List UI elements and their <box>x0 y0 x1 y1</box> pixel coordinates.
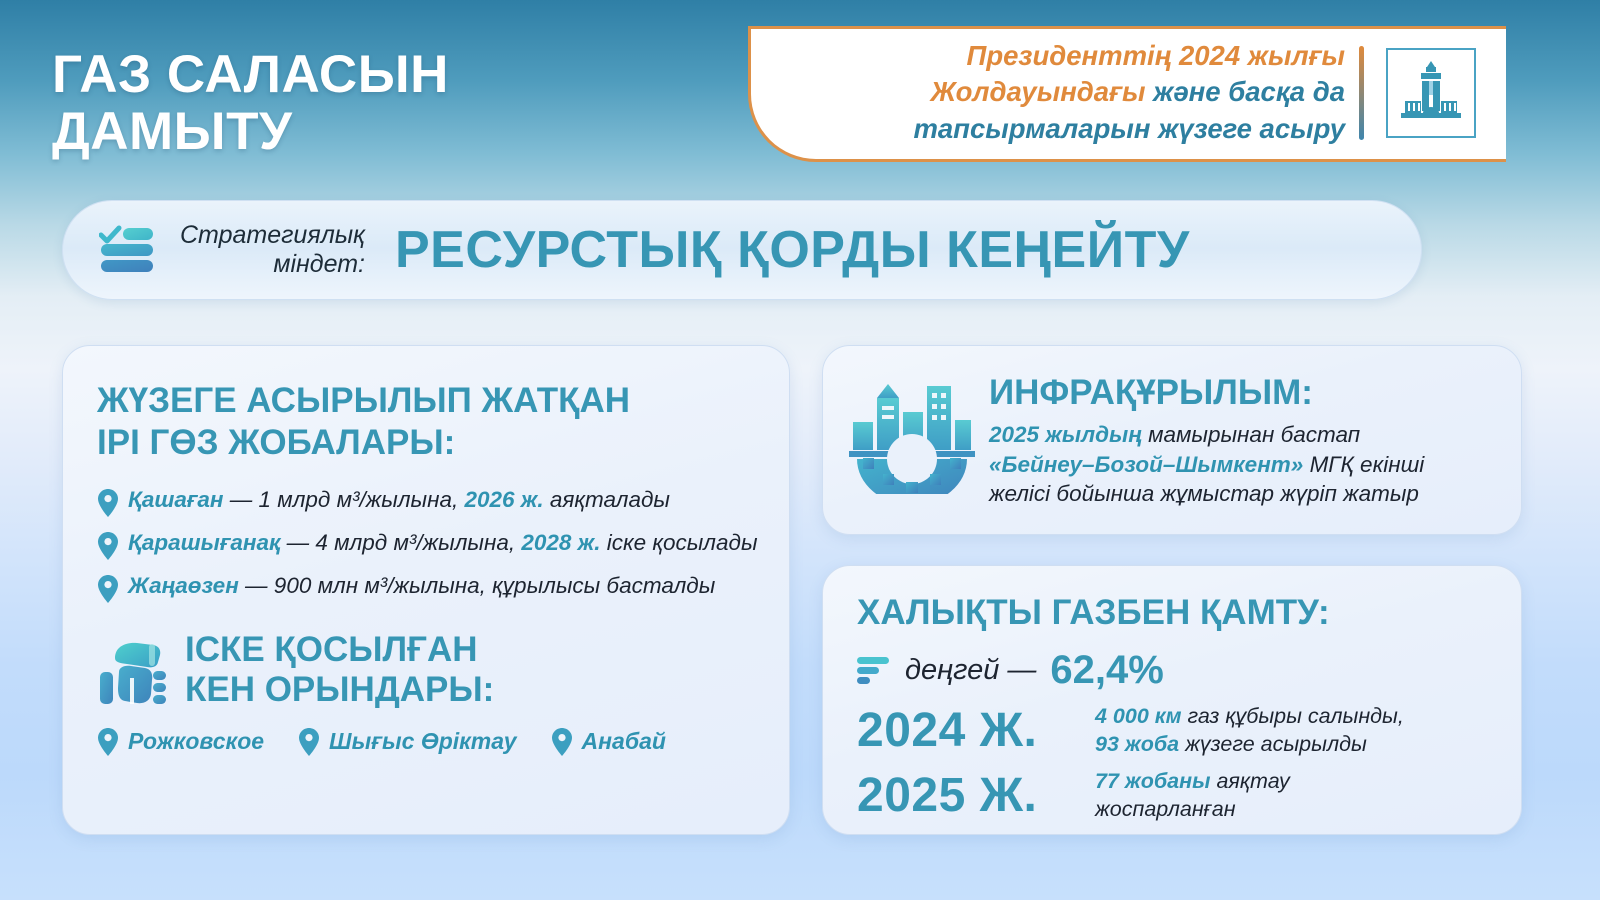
year-label: 2024 Ж. <box>857 703 1095 758</box>
major-projects-card: ЖҮЗЕГЕ АСЫРЫЛЫП ЖАТҚАН ІРІ ГӨЗ ЖОБАЛАРЫ:… <box>62 345 790 835</box>
field-name: Рожковское <box>128 728 264 755</box>
year-row: 2025 Ж. 77 жобаны аяқтау жоспарланған <box>857 768 1491 823</box>
infrastructure-title: ИНФРАҚҰРЫЛЫМ: <box>989 372 1424 414</box>
major-projects-title: ЖҮЗЕГЕ АСЫРЫЛЫП ЖАТҚАН ІРІ ГӨЗ ЖОБАЛАРЫ: <box>97 380 759 464</box>
page-title-line1: ГАЗ САЛАСЫН <box>52 46 449 103</box>
map-pin-icon <box>97 727 119 757</box>
project-name: Қарашығанақ <box>128 530 280 555</box>
list-item-text: Қашаған — 1 млрд м³/жылына, 2026 ж. аяқт… <box>128 486 670 515</box>
page-title: ГАЗ САЛАСЫН ДАМЫТУ <box>52 46 449 160</box>
year-label: 2025 Ж. <box>857 768 1095 823</box>
major-projects-list: Қашаған — 1 млрд м³/жылына, 2026 ж. аяқт… <box>97 486 759 604</box>
strategic-task-value: РЕСУРСТЫҚ ҚОРДЫ КЕҢЕЙТУ <box>395 220 1190 280</box>
page-title-line2: ДАМЫТУ <box>52 103 449 160</box>
list-item-text: Қарашығанақ — 4 млрд м³/жылына, 2028 ж. … <box>128 529 758 558</box>
list-item: Қарашығанақ — 4 млрд м³/жылына, 2028 ж. … <box>97 529 759 561</box>
infra-line1-rest: мамырынан бастап <box>1142 422 1360 447</box>
infra-line1-teal: 2025 жылдың <box>989 422 1142 447</box>
list-item: Рожковское <box>97 727 264 757</box>
map-pin-icon <box>97 488 119 518</box>
list-item: Қашаған — 1 млрд м³/жылына, 2026 ж. аяқт… <box>97 486 759 518</box>
banner-line1: Президенттің 2024 жылғы <box>967 40 1345 71</box>
banner-line2-rest: және басқа да <box>1145 76 1345 107</box>
year-desc-rest2: жоспарланған <box>1095 797 1236 821</box>
project-tail: іске қосылады <box>600 530 757 555</box>
year-desc-rest1: газ құбыры салынды, <box>1182 704 1404 728</box>
page-header: ГАЗ САЛАСЫН ДАМЫТУ Президенттің 2024 жыл… <box>0 0 1600 190</box>
banner-divider <box>1359 46 1364 140</box>
list-item: Анабай <box>551 727 666 757</box>
strategic-task-bar: Стратегиялық міндет: РЕСУРСТЫҚ ҚОРДЫ КЕҢ… <box>62 200 1422 300</box>
launched-fields-header: ІСКЕ ҚОСЫЛҒАН КЕН ОРЫНДАРЫ: <box>97 630 759 711</box>
year-desc-teal1: 4 000 км <box>1095 704 1182 728</box>
project-name: Жаңаөзен <box>128 573 239 598</box>
checklist-icon <box>99 225 155 275</box>
project-name: Қашаған <box>128 487 224 512</box>
list-item: Шығыс Өріктау <box>298 727 517 757</box>
year-desc-rest1: аяқтау <box>1210 769 1289 793</box>
strategic-task-label: Стратегиялық міндет: <box>177 221 365 280</box>
project-year: 2028 ж. <box>521 530 600 555</box>
list-item: Жаңаөзен — 900 млн м³/жылына, құрылысы б… <box>97 572 759 604</box>
year-description: 4 000 км газ құбыры салынды, 93 жоба жүз… <box>1095 703 1404 757</box>
project-mid: — 900 млн м³/жылына, құрылысы басталды <box>239 573 716 598</box>
president-banner: Президенттің 2024 жылғы Жолдауындағы жән… <box>748 26 1506 162</box>
gas-coverage-title: ХАЛЫҚТЫ ГАЗБЕН ҚАМТУ: <box>857 592 1491 634</box>
map-pin-icon <box>298 727 320 757</box>
infra-line3: желісі бойынша жұмыстар жүріп жатыр <box>989 481 1419 506</box>
year-desc-rest2: жүзеге асырылды <box>1179 732 1367 756</box>
list-item-text: Жаңаөзен — 900 млн м³/жылына, құрылысы б… <box>128 572 715 601</box>
project-mid: — 1 млрд м³/жылына, <box>224 487 465 512</box>
infrastructure-text: 2025 жылдың мамырынан бастап «Бейнеу–Боз… <box>989 420 1424 509</box>
strategic-label-line1: Стратегиялық <box>177 221 365 251</box>
gas-coverage-card: ХАЛЫҚТЫ ГАЗБЕН ҚАМТУ: деңгей — 62,4% 202… <box>822 565 1522 835</box>
coverage-level-value: 62,4% <box>1050 648 1163 693</box>
map-pin-icon <box>551 727 573 757</box>
launched-fields-title: ІСКЕ ҚОСЫЛҒАН КЕН ОРЫНДАРЫ: <box>185 630 494 711</box>
project-mid: — 4 млрд м³/жылына, <box>280 530 521 555</box>
coverage-level-row: деңгей — 62,4% <box>857 648 1491 693</box>
drill-hand-icon <box>97 634 171 706</box>
infrastructure-card: ИНФРАҚҰРЫЛЫМ: 2025 жылдың мамырынан баст… <box>822 345 1522 535</box>
year-description: 77 жобаны аяқтау жоспарланған <box>1095 768 1290 822</box>
president-banner-text: Президенттің 2024 жылғы Жолдауындағы жән… <box>913 38 1359 148</box>
launched-fields-list: Рожковское Шығыс Өріктау Анабай <box>97 727 759 757</box>
bar-chart-icon <box>857 656 891 686</box>
city-gear-icon <box>847 376 977 494</box>
map-pin-icon <box>97 574 119 604</box>
infra-line2-teal: «Бейнеу–Бозой–Шымкент» <box>989 452 1303 477</box>
infra-line2-rest: МГҚ екінші <box>1303 452 1424 477</box>
year-desc-teal2: 93 жоба <box>1095 732 1179 756</box>
major-projects-title-line1: ЖҮЗЕГЕ АСЫРЫЛЫП ЖАТҚАН <box>97 380 759 422</box>
coverage-level-label: деңгей — <box>905 654 1036 687</box>
field-name: Шығыс Өріктау <box>329 728 517 755</box>
project-year: 2026 ж. <box>464 487 543 512</box>
government-building-icon <box>1386 48 1476 138</box>
banner-line2-orange: Жолдауындағы <box>930 76 1145 107</box>
strategic-label-line2: міндет: <box>177 250 365 280</box>
launched-title-line2: КЕН ОРЫНДАРЫ: <box>185 670 494 710</box>
launched-title-line1: ІСКЕ ҚОСЫЛҒАН <box>185 630 494 670</box>
project-tail: аяқталады <box>544 487 670 512</box>
major-projects-title-line2: ІРІ ГӨЗ ЖОБАЛАРЫ: <box>97 422 759 464</box>
map-pin-icon <box>97 531 119 561</box>
year-desc-teal1: 77 жобаны <box>1095 769 1210 793</box>
banner-line3: тапсырмаларын жүзеге асыру <box>913 113 1345 144</box>
year-row: 2024 Ж. 4 000 км газ құбыры салынды, 93 … <box>857 703 1491 758</box>
field-name: Анабай <box>582 728 666 755</box>
